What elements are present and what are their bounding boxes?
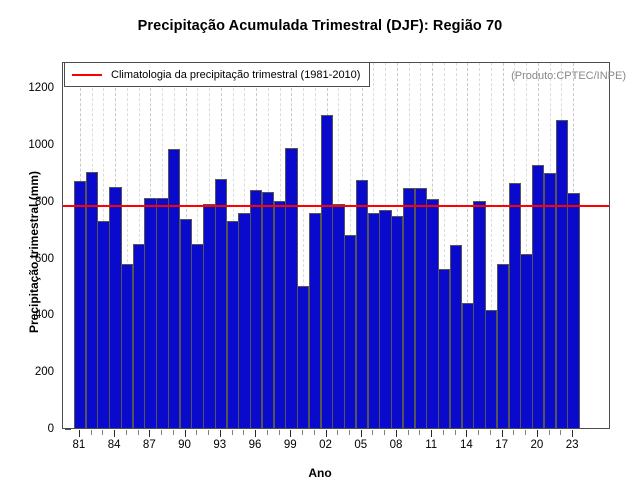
x-tick-mark: [466, 430, 467, 437]
x-tick-label: 23: [552, 439, 592, 451]
x-tick-mark: [79, 430, 80, 437]
x-tick-mark: [431, 430, 432, 437]
bar: [274, 201, 286, 428]
x-tick-mark: [114, 430, 115, 437]
x-tick-label: 96: [235, 439, 275, 451]
legend: Climatologia da precipitação trimestral …: [64, 62, 370, 87]
x-tick-mark: [138, 430, 139, 435]
bar: [544, 173, 556, 428]
x-tick-mark: [455, 430, 456, 435]
bar: [156, 198, 168, 428]
bar: [297, 286, 309, 428]
x-tick-mark: [326, 430, 327, 437]
plot-area: [62, 62, 610, 429]
x-tick-label: 17: [482, 439, 522, 451]
bar: [285, 148, 297, 428]
product-credit: (Produto:CPTEC/INPE): [511, 70, 626, 82]
x-tick-mark: [537, 430, 538, 437]
x-axis-title: Ano: [0, 466, 640, 480]
x-tick-label: 87: [129, 439, 169, 451]
x-tick-mark: [396, 430, 397, 437]
x-tick-mark: [173, 430, 174, 435]
bar: [203, 204, 215, 428]
bar: [356, 180, 368, 428]
x-tick-mark: [525, 430, 526, 435]
x-tick-mark: [267, 430, 268, 435]
x-tick-mark: [337, 430, 338, 435]
bar: [520, 254, 532, 428]
x-tick-mark: [384, 430, 385, 435]
y-axis-title: Precipitação trimestral (mm): [27, 122, 41, 382]
bar: [191, 244, 203, 428]
x-tick-mark: [408, 430, 409, 435]
climatology-reference-line: [63, 205, 609, 207]
bar: [309, 213, 321, 428]
x-tick-mark: [361, 430, 362, 437]
x-tick-mark: [419, 430, 420, 435]
x-tick-mark: [255, 430, 256, 437]
x-tick-mark: [185, 430, 186, 437]
bar: [556, 120, 568, 428]
bar: [238, 213, 250, 428]
bar: [567, 193, 579, 428]
bar: [403, 188, 415, 428]
bar: [180, 219, 192, 428]
bar: [497, 264, 509, 428]
bar: [121, 264, 133, 428]
x-tick-label: 02: [306, 439, 346, 451]
x-tick-mark: [208, 430, 209, 435]
x-tick-label: 14: [446, 439, 486, 451]
bar: [344, 235, 356, 428]
x-tick-label: 84: [94, 439, 134, 451]
bar: [415, 188, 427, 428]
bar: [215, 179, 227, 428]
bar: [485, 310, 497, 428]
x-tick-mark: [220, 430, 221, 437]
x-tick-label: 81: [59, 439, 99, 451]
bar: [332, 204, 344, 428]
bar: [250, 190, 262, 428]
x-tick-mark: [443, 430, 444, 435]
x-tick-mark: [478, 430, 479, 435]
bar: [262, 192, 274, 428]
x-tick-mark: [349, 430, 350, 435]
x-tick-mark: [572, 430, 573, 437]
bar: [321, 115, 333, 428]
x-tick-label: 05: [341, 439, 381, 451]
x-tick-mark: [560, 430, 561, 435]
bar: [438, 269, 450, 428]
x-tick-label: 08: [376, 439, 416, 451]
x-tick-mark: [549, 430, 550, 435]
bar: [473, 201, 485, 428]
x-tick-label: 11: [411, 439, 451, 451]
bar: [144, 198, 156, 428]
x-tick-mark: [279, 430, 280, 435]
x-tick-mark: [513, 430, 514, 435]
x-tick-mark: [314, 430, 315, 435]
x-tick-label: 93: [200, 439, 240, 451]
x-tick-mark: [502, 430, 503, 437]
x-tick-mark: [161, 430, 162, 435]
x-tick-mark: [232, 430, 233, 435]
y-tick-label: 0: [12, 423, 54, 435]
legend-label: Climatologia da precipitação trimestral …: [111, 69, 360, 81]
bar: [86, 172, 98, 428]
legend-line-swatch: [72, 74, 102, 76]
bar: [426, 199, 438, 428]
x-tick-mark: [290, 430, 291, 437]
bar: [227, 221, 239, 428]
x-tick-mark: [196, 430, 197, 435]
x-tick-mark: [490, 430, 491, 435]
bar: [97, 221, 109, 428]
bar: [368, 213, 380, 428]
bars-layer: [63, 63, 609, 428]
chart-title: Precipitação Acumulada Trimestral (DJF):…: [0, 18, 640, 34]
precipitation-bar-chart: Precipitação Acumulada Trimestral (DJF):…: [0, 0, 640, 500]
x-tick-label: 90: [165, 439, 205, 451]
bar: [391, 216, 403, 428]
bar: [379, 210, 391, 428]
x-tick-mark: [91, 430, 92, 435]
bar: [450, 245, 462, 428]
bar: [74, 181, 86, 428]
bar: [109, 187, 121, 428]
bar: [133, 244, 145, 428]
x-tick-mark: [372, 430, 373, 435]
x-tick-label: 99: [270, 439, 310, 451]
x-tick-mark: [126, 430, 127, 435]
bar: [509, 183, 521, 428]
x-tick-label: 20: [517, 439, 557, 451]
y-tick-mark: [65, 429, 71, 430]
y-tick-label: 1200: [12, 82, 54, 94]
x-tick-mark: [149, 430, 150, 437]
bar: [462, 303, 474, 428]
x-tick-mark: [102, 430, 103, 435]
x-tick-mark: [243, 430, 244, 435]
bar: [168, 149, 180, 428]
x-tick-mark: [302, 430, 303, 435]
